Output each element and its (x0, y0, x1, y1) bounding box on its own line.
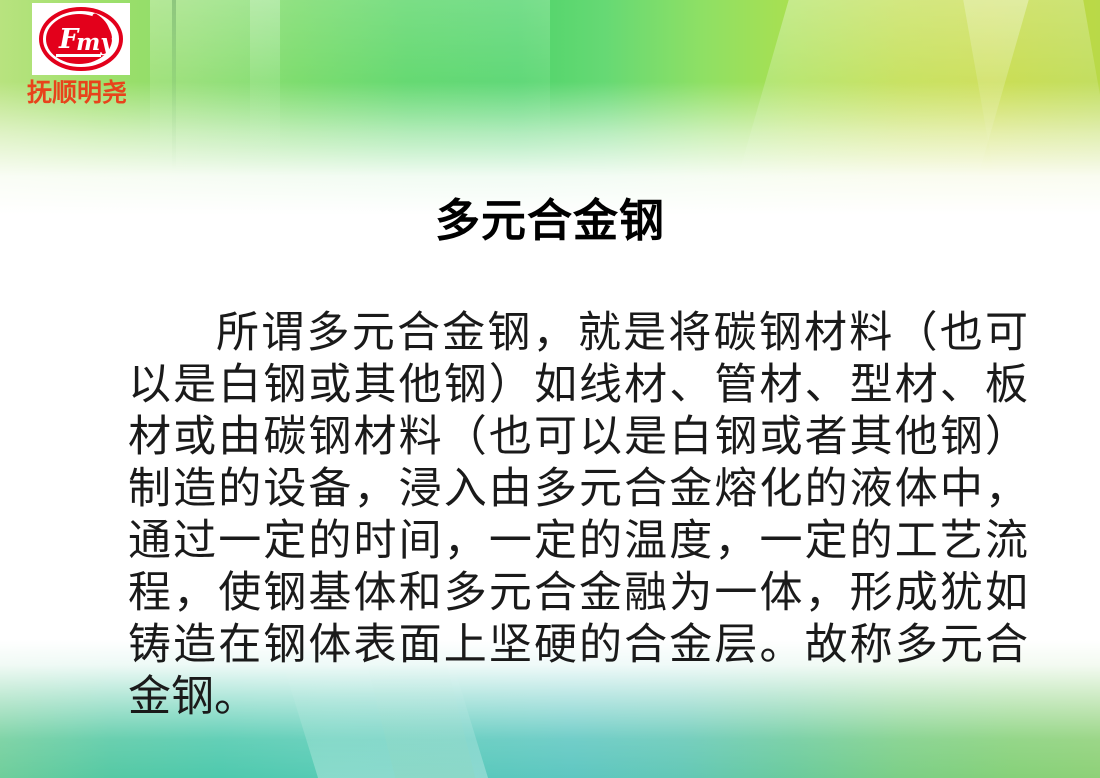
background-streak-right (731, 0, 1028, 200)
slide-body-text: 所谓多元合金钢，就是将碳钢材料（也可以是白钢或其他钢）如线材、管材、型材、板材或… (128, 307, 1028, 723)
background-streak-left (150, 0, 280, 170)
top-gradient-band (0, 0, 1100, 215)
background-streak-line (172, 0, 176, 170)
background-streak-light (250, 0, 550, 150)
svg-text:my: my (76, 29, 115, 56)
logo-caption: 抚顺明尧 (12, 79, 142, 107)
presentation-slide: F my 抚顺明尧 多元合金钢 所谓多元合金钢，就是将碳钢材料（也可以是白钢或其… (0, 0, 1100, 778)
slide-title: 多元合金钢 (0, 196, 1100, 246)
company-logo: F my 抚顺明尧 (12, 3, 142, 107)
background-streak-far-right (963, 0, 1100, 190)
logo-mark-icon: F my (32, 3, 130, 75)
